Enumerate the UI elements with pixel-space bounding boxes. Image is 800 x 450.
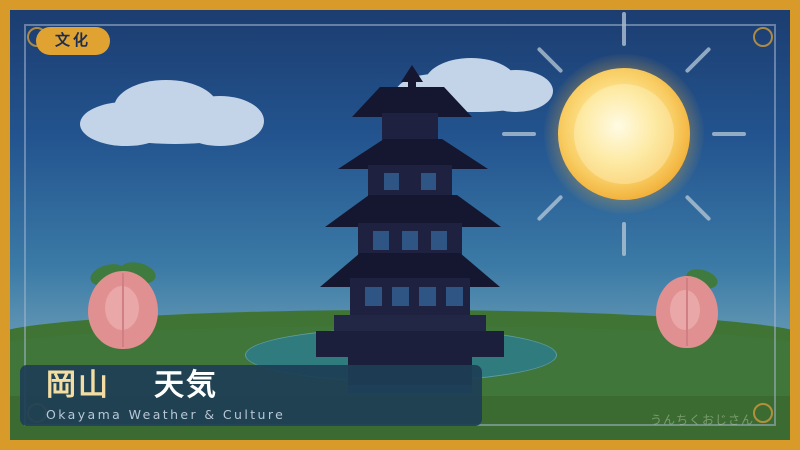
castle-window	[373, 231, 389, 250]
corner-circle-bottom-right	[753, 403, 773, 423]
castle-window	[446, 287, 463, 306]
peach-icon-right	[648, 262, 730, 348]
peach-crease	[122, 273, 124, 347]
title-line: 岡山 天気	[46, 371, 482, 401]
peach-icon-left	[78, 253, 168, 349]
castle-window	[384, 173, 399, 190]
castle-window	[431, 231, 447, 250]
cloud-icon-left	[80, 80, 265, 146]
page-subtitle: Okayama Weather & Culture	[46, 407, 482, 422]
category-badge-label: 文化	[55, 31, 91, 49]
corner-circle-top-right	[753, 27, 773, 47]
sun-ray	[622, 12, 626, 46]
okayama-castle-icon	[320, 65, 500, 355]
castle-window	[392, 287, 409, 306]
peach-crease	[686, 278, 688, 346]
sun-ray	[712, 132, 746, 136]
castle-window	[421, 173, 436, 190]
sun-core	[574, 84, 674, 184]
castle-window	[365, 287, 382, 306]
sun-ray	[502, 132, 536, 136]
sun-ray	[622, 222, 626, 256]
title-card: 岡山 天気 Okayama Weather & Culture	[20, 365, 482, 426]
category-badge[interactable]: 文化	[36, 27, 110, 55]
cloud-puff	[100, 110, 250, 144]
castle-window	[402, 231, 418, 250]
page-title-secondary: 天気	[154, 371, 218, 401]
sun-icon	[544, 54, 704, 214]
page-title-primary: 岡山	[46, 371, 110, 401]
castle-window	[419, 287, 436, 306]
peach-highlight	[670, 290, 700, 330]
infographic-card: 文化 岡山 天気 Okayama Weather & Culture うんちくお…	[0, 0, 800, 450]
watermark-credit: うんちくおじさん	[650, 411, 754, 428]
